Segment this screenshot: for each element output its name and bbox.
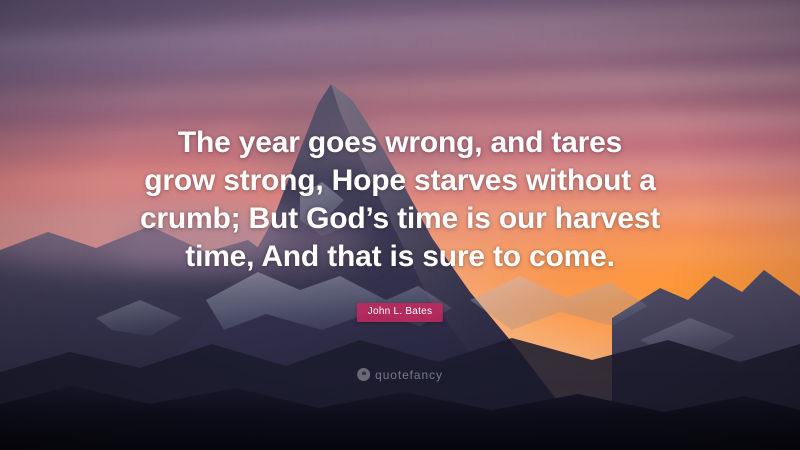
quote-line-2: grow strong, Hope starves without a: [120, 162, 680, 200]
quote-wallpaper: The year goes wrong, and tares grow stro…: [0, 0, 800, 450]
author-badge[interactable]: John L. Bates: [357, 303, 443, 322]
watermark-brand: quotefancy: [375, 369, 443, 381]
quotefancy-watermark[interactable]: ❝ quotefancy: [357, 368, 443, 381]
quote-line-1: The year goes wrong, and tares: [120, 124, 680, 162]
quote-line-3: crumb; But God’s time is our harvest: [120, 200, 680, 238]
quote-mark-glyph: ❝: [361, 371, 365, 380]
quote-mark-logo-icon: ❝: [357, 368, 370, 381]
quote-text: The year goes wrong, and tares grow stro…: [0, 124, 800, 276]
quote-line-4: time, And that is sure to come.: [120, 238, 680, 276]
